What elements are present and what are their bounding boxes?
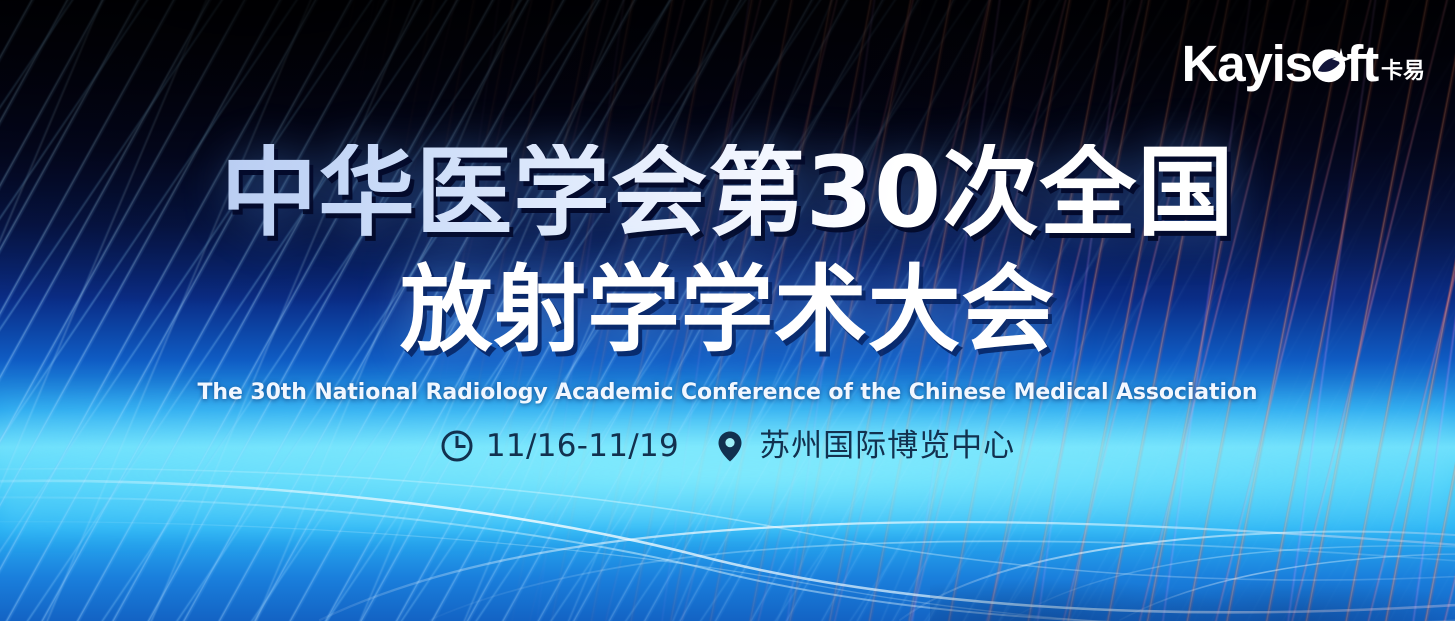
event-date-label: 11/16-11/19 [486, 431, 679, 462]
logo-wordmark: Kayis ft [1182, 38, 1378, 89]
conference-banner: Kayis ft 卡易 中华医学会第30次全国 放射学学术大会 The 30th… [0, 0, 1455, 621]
clock-icon [440, 429, 474, 463]
logo-wordmark-part-a: Kayis [1182, 35, 1312, 92]
event-meta-row: 11/16-11/19 苏州国际博览中心 [440, 429, 1015, 463]
title-line-2: 放射学学术大会 [400, 264, 1055, 358]
event-date: 11/16-11/19 [440, 429, 679, 463]
sparkle-icon [1330, 27, 1352, 49]
subtitle-english: The 30th National Radiology Academic Con… [198, 380, 1258, 405]
logo-chinese-suffix: 卡易 [1381, 61, 1425, 89]
location-pin-icon [713, 429, 747, 463]
banner-content: 中华医学会第30次全国 放射学学术大会 The 30th National Ra… [0, 0, 1455, 621]
event-location-label: 苏州国际博览中心 [759, 431, 1015, 462]
kayisoft-logo[interactable]: Kayis ft 卡易 [1182, 38, 1425, 89]
title-line-1: 中华医学会第30次全国 [221, 144, 1235, 242]
event-location: 苏州国际博览中心 [713, 429, 1015, 463]
